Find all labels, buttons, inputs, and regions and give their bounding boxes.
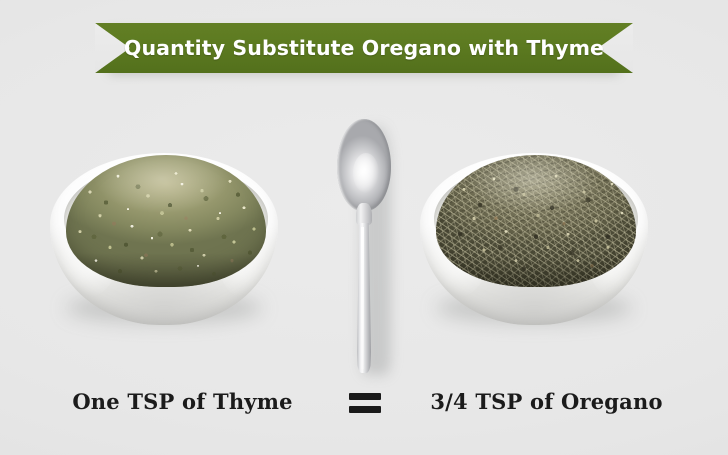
right-bowl-group bbox=[418, 145, 650, 335]
title-banner: Quantity Substitute Oregano with Thyme bbox=[95, 23, 633, 75]
spoon-bowl-highlight bbox=[353, 153, 379, 193]
thyme-texture-c bbox=[436, 155, 636, 287]
spoon-handle bbox=[357, 223, 371, 373]
left-caption: One TSP of Thyme bbox=[0, 386, 365, 416]
oregano-heap bbox=[66, 155, 266, 287]
left-bowl-group bbox=[48, 145, 280, 335]
page-title: Quantity Substitute Oregano with Thyme bbox=[95, 23, 633, 73]
spoon-icon bbox=[333, 119, 395, 379]
spoon-neck bbox=[356, 203, 372, 225]
spoon-bowl bbox=[337, 119, 391, 211]
right-caption: 3/4 TSP of Oregano bbox=[365, 386, 728, 416]
thyme-heap bbox=[436, 155, 636, 287]
infographic-canvas: Quantity Substitute Oregano with Thyme bbox=[0, 0, 728, 455]
oregano-texture-c bbox=[66, 155, 266, 287]
spoon-handle-highlight bbox=[361, 227, 364, 369]
